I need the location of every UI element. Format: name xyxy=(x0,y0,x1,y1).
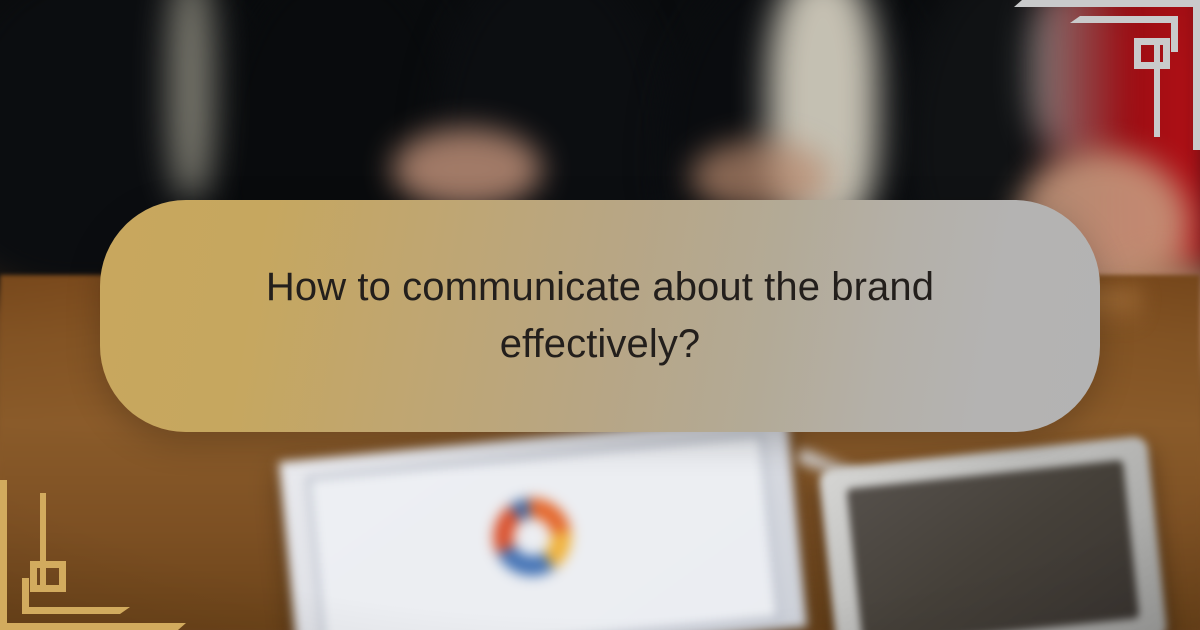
frame-outer-horizontal-tr xyxy=(1014,0,1200,7)
title-card: How to communicate about the brand effec… xyxy=(100,200,1100,432)
frame-outer-vertical-bl xyxy=(0,480,7,630)
frame-inner-vertical-tr xyxy=(1171,16,1178,52)
tablet-screen xyxy=(846,460,1139,630)
tablet-device xyxy=(818,435,1168,630)
page-title: How to communicate about the brand effec… xyxy=(250,259,950,373)
banner-stage: How to communicate about the brand effec… xyxy=(0,0,1200,630)
frame-outer-vertical-tr xyxy=(1193,0,1200,150)
frame-outer-horizontal-bl xyxy=(0,623,186,630)
frame-inner-vertical-bl xyxy=(22,578,29,614)
frame-drop-line-tr xyxy=(1154,45,1160,137)
corner-frame-bottom-left xyxy=(0,480,200,630)
shirt-highlight xyxy=(168,0,214,200)
hand-blur xyxy=(392,128,542,210)
frame-drop-line-bl xyxy=(40,493,46,585)
frame-inner-horizontal-tr xyxy=(1070,16,1178,23)
frame-inner-horizontal-bl xyxy=(22,607,130,614)
corner-frame-top-right xyxy=(1000,0,1200,150)
